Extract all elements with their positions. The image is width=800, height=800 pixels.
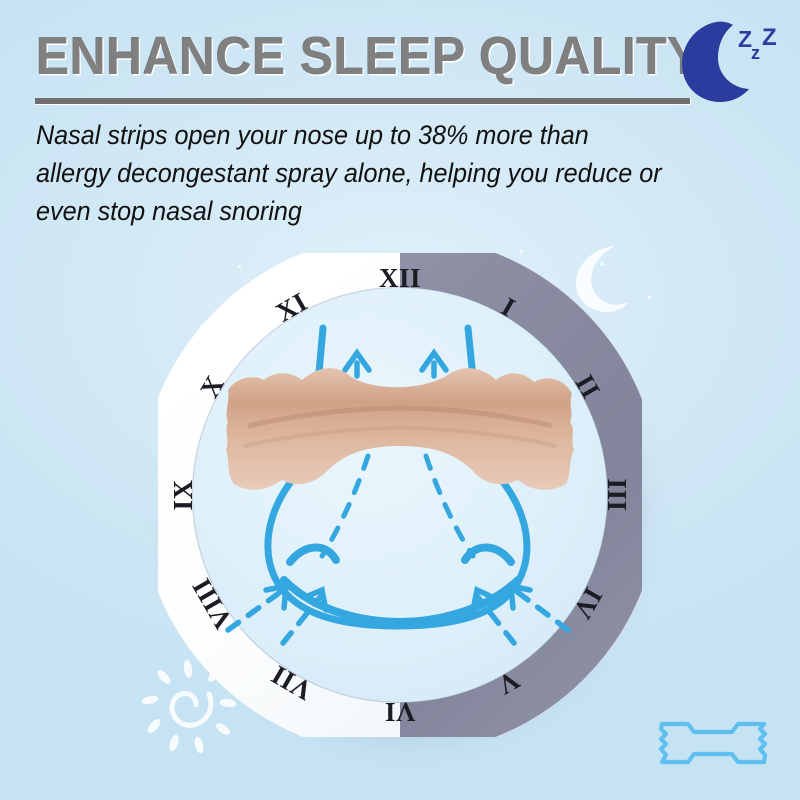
sleeping-moon-badge: Z z Z [672, 14, 784, 106]
airflow-dashed-paths [322, 456, 473, 556]
z-letter-medium: Z [762, 24, 777, 51]
nasal-strip-outline-icon [648, 712, 778, 774]
airflow-in-arrows [228, 586, 568, 643]
z-letter-large: Z [738, 26, 752, 52]
header: ENHANCE SLEEP QUALITY Nasal strips open … [0, 0, 800, 240]
nasal-strip [226, 368, 574, 490]
z-letter-small: z [751, 43, 760, 63]
poster-root: ENHANCE SLEEP QUALITY Nasal strips open … [0, 0, 800, 800]
clock-dial: XII I II III IV V VI VII VIII IX X XI [158, 253, 642, 737]
page-title: ENHANCE SLEEP QUALITY [36, 26, 701, 87]
star-dot [648, 296, 651, 299]
sleeping-moon-icon: Z z Z [672, 14, 784, 106]
header-divider [35, 98, 690, 104]
page-subtitle: Nasal strips open your nose up to 38% mo… [36, 116, 663, 230]
nose-illustration [218, 308, 582, 682]
